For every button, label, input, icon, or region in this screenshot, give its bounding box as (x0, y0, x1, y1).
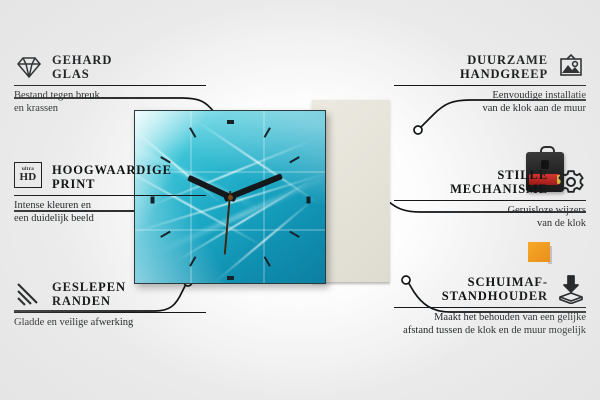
feature-geslepen-randen[interactable]: GESLEPEN RANDEN Gladde en veilige afwerk… (14, 279, 206, 330)
tick-12 (227, 120, 234, 124)
divider (14, 85, 206, 86)
tick-3 (306, 197, 310, 204)
feature-description: Intense kleuren en een duidelijk beeld (14, 200, 206, 225)
divider (394, 307, 586, 308)
tick-6 (227, 276, 234, 280)
feature-header: DUURZAME HANDGREEP (394, 52, 586, 82)
clock-hub (228, 195, 233, 200)
feature-title: GEHARD GLAS (52, 53, 112, 81)
feature-stille-mechanisme[interactable]: STILLE MECHANISME Geruisloze wijzers van… (394, 167, 586, 230)
feature-description: Maakt het behouden van een gelijke afsta… (394, 312, 586, 337)
feature-header: STILLE MECHANISME (394, 167, 586, 197)
divider (394, 85, 586, 86)
foam-spacer (528, 242, 550, 262)
feature-title: STILLE MECHANISME (450, 168, 548, 196)
tick-8 (160, 231, 171, 238)
feature-schuimafstandhouder[interactable]: SCHUIMAF- STANDHOUDER Maakt het behouden… (394, 274, 586, 337)
bevelled-edges-icon (14, 279, 44, 309)
diamond-icon (14, 52, 44, 82)
feature-title: SCHUIMAF- STANDHOUDER (442, 275, 548, 303)
feature-title: HOOGWAARDIGE PRINT (52, 163, 172, 191)
feature-description: Eenvoudige installatie van de klok aan d… (394, 90, 586, 115)
feature-header: SCHUIMAF- STANDHOUDER (394, 274, 586, 304)
infographic-canvas: GEHARD GLAS Bestand tegen breuk en krass… (0, 0, 600, 400)
divider (394, 200, 586, 201)
feature-title: GESLEPEN RANDEN (52, 280, 126, 308)
feature-description: Gladde en veilige afwerking (14, 317, 206, 330)
ultra-hd-icon: ultra HD (14, 162, 44, 192)
tick-1 (264, 127, 271, 138)
feature-duurzame-handgreep[interactable]: DUURZAME HANDGREEP Eenvoudige installati… (394, 52, 586, 115)
picture-frame-icon (556, 52, 586, 82)
spacer-press-icon (556, 274, 586, 304)
tick-4 (289, 231, 300, 238)
feature-description: Bestand tegen breuk en krassen (14, 90, 206, 115)
feature-gehard-glas[interactable]: GEHARD GLAS Bestand tegen breuk en krass… (14, 52, 206, 115)
gear-icon (556, 167, 586, 197)
divider (14, 312, 206, 313)
feature-header: GEHARD GLAS (14, 52, 206, 82)
feature-header: ultra HD HOOGWAARDIGE PRINT (14, 162, 206, 192)
feature-description: Geruisloze wijzers van de klok (394, 205, 586, 230)
feature-header: GESLEPEN RANDEN (14, 279, 206, 309)
feature-title: DUURZAME HANDGREEP (460, 53, 548, 81)
divider (14, 195, 206, 196)
tick-2 (289, 156, 300, 163)
feature-hoogwaardige-print[interactable]: ultra HD HOOGWAARDIGE PRINT Intense kleu… (14, 162, 206, 225)
tick-5 (264, 256, 271, 267)
